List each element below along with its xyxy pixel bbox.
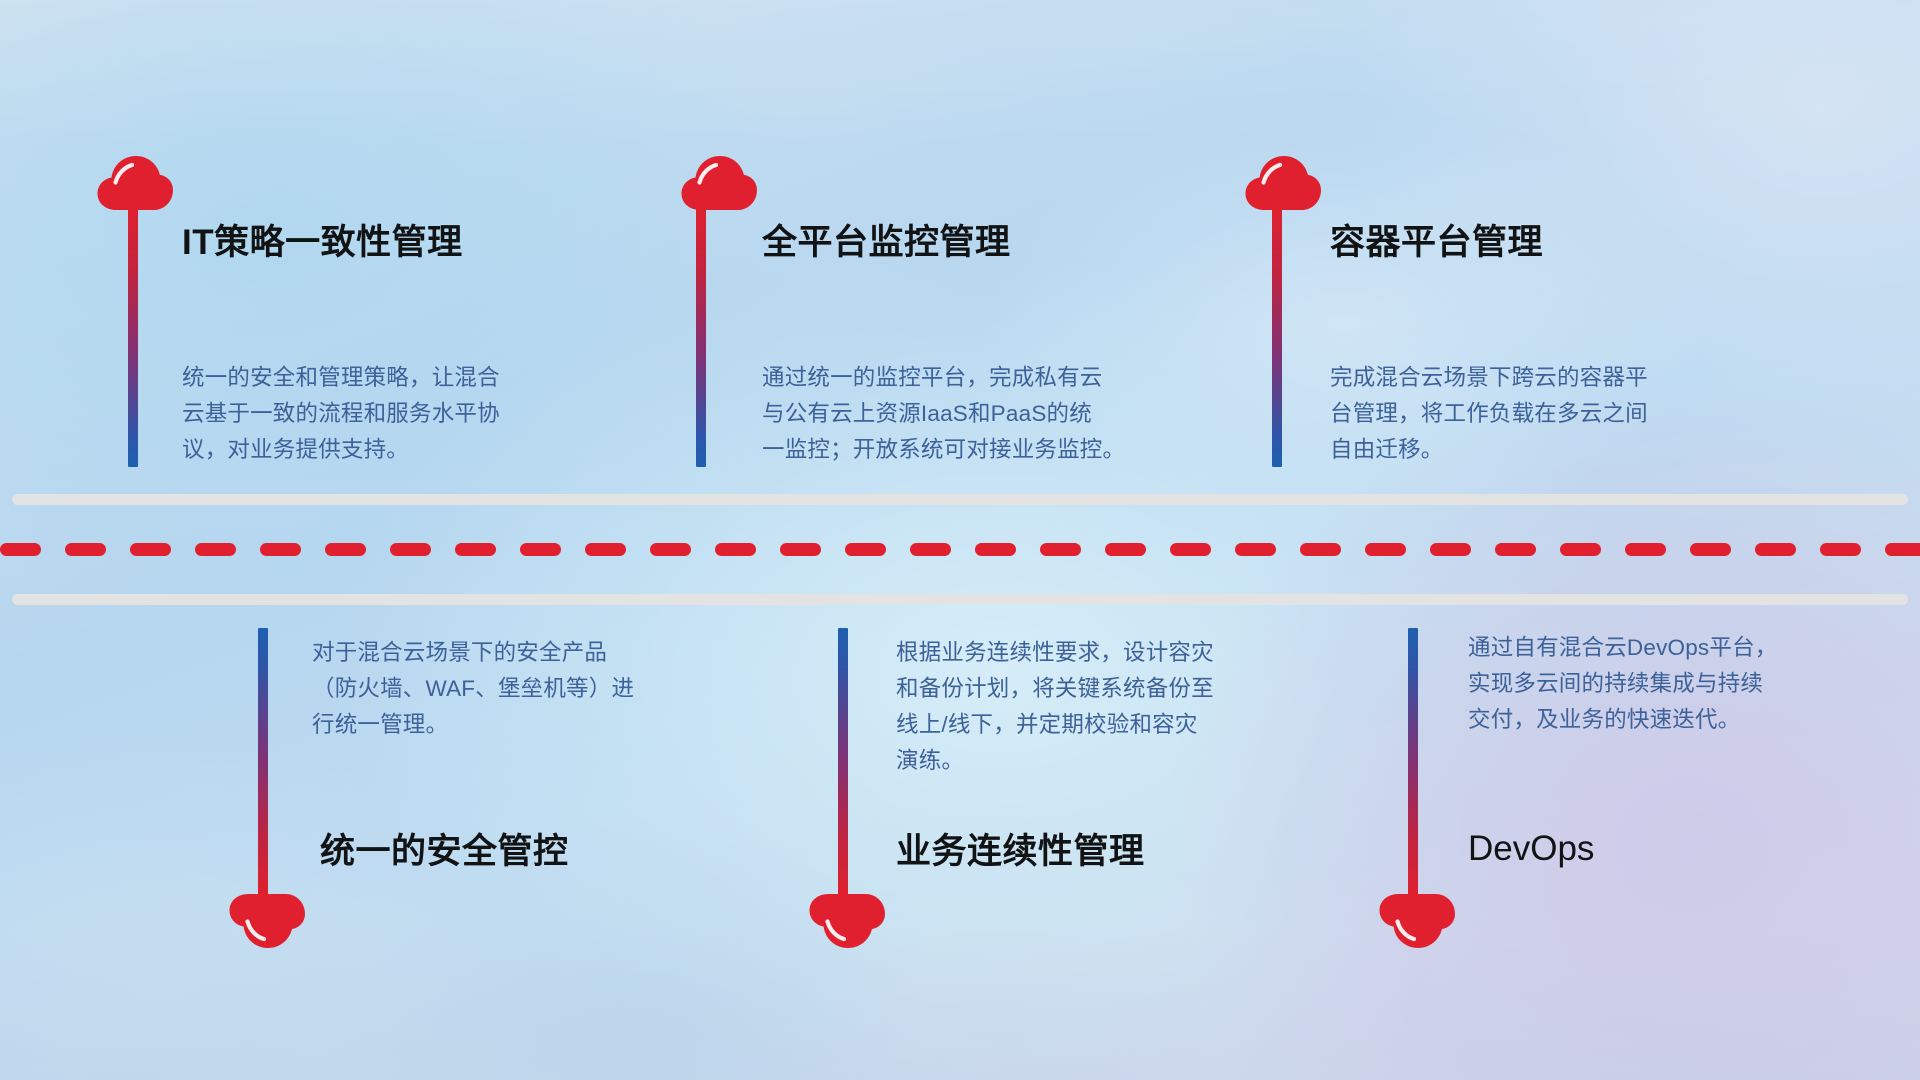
divider-dash	[715, 543, 756, 556]
divider-dash	[845, 543, 886, 556]
cloud-icon	[228, 893, 306, 949]
card-title: 全平台监控管理	[762, 222, 1011, 264]
card-body: 根据业务连续性要求，设计容灾 和备份计划，将关键系统备份至 线上/线下，并定期校…	[896, 635, 1326, 779]
divider-dash	[585, 543, 626, 556]
divider-dash	[1105, 543, 1146, 556]
card-title: 容器平台管理	[1330, 222, 1543, 264]
divider-dash	[1560, 543, 1601, 556]
divider-dash	[0, 543, 41, 556]
divider-dash	[260, 543, 301, 556]
card-title: DevOps	[1468, 828, 1594, 870]
divider-dash	[130, 543, 171, 556]
divider-dash	[1495, 543, 1536, 556]
divider-dash	[1885, 543, 1920, 556]
divider-dash	[975, 543, 1016, 556]
divider-dash	[195, 543, 236, 556]
card-body: 完成混合云场景下跨云的容器平 台管理，将工作负载在多云之间 自由迁移。	[1330, 360, 1760, 468]
divider-dash	[1040, 543, 1081, 556]
connector-line	[838, 628, 848, 898]
divider-dash	[650, 543, 691, 556]
card-title: 业务连续性管理	[896, 831, 1145, 873]
cloud-icon	[1244, 155, 1322, 211]
divider-dash	[520, 543, 561, 556]
divider-dash	[1300, 543, 1341, 556]
divider-line-lower	[12, 594, 1908, 605]
connector-line	[1272, 205, 1282, 467]
divider-dash	[1235, 543, 1276, 556]
divider-dash	[1365, 543, 1406, 556]
divider-dash	[1690, 543, 1731, 556]
connector-line	[1408, 628, 1418, 898]
divider-dash	[455, 543, 496, 556]
cloud-icon	[680, 155, 758, 211]
divider-dash	[65, 543, 106, 556]
divider-dash	[910, 543, 951, 556]
divider-dash	[1820, 543, 1861, 556]
divider-dash	[780, 543, 821, 556]
cloud-icon	[808, 893, 886, 949]
card-body: 通过自有混合云DevOps平台， 实现多云间的持续集成与持续 交付，及业务的快速…	[1468, 630, 1898, 738]
divider-dash	[1430, 543, 1471, 556]
card-title: IT策略一致性管理	[182, 222, 463, 264]
infographic-canvas: IT策略一致性管理 统一的安全和管理策略，让混合 云基于一致的流程和服务水平协 …	[0, 0, 1920, 1080]
cloud-icon	[1378, 893, 1456, 949]
divider-dash	[390, 543, 431, 556]
divider-dashed-line	[0, 543, 1920, 556]
connector-line	[258, 628, 268, 898]
divider-dash	[1755, 543, 1796, 556]
divider-dash	[325, 543, 366, 556]
cloud-icon	[96, 155, 174, 211]
card-body: 对于混合云场景下的安全产品 （防火墙、WAF、堡垒机等）进 行统一管理。	[312, 635, 742, 743]
card-title: 统一的安全管控	[320, 831, 569, 873]
card-body: 统一的安全和管理策略，让混合 云基于一致的流程和服务水平协 议，对业务提供支持。	[182, 360, 612, 468]
divider-line-upper	[12, 494, 1908, 505]
connector-line	[128, 205, 138, 467]
card-body: 通过统一的监控平台，完成私有云 与公有云上资源IaaS和PaaS的统 一监控；开…	[762, 360, 1212, 468]
divider-dash	[1170, 543, 1211, 556]
connector-line	[696, 205, 706, 467]
divider-dash	[1625, 543, 1666, 556]
